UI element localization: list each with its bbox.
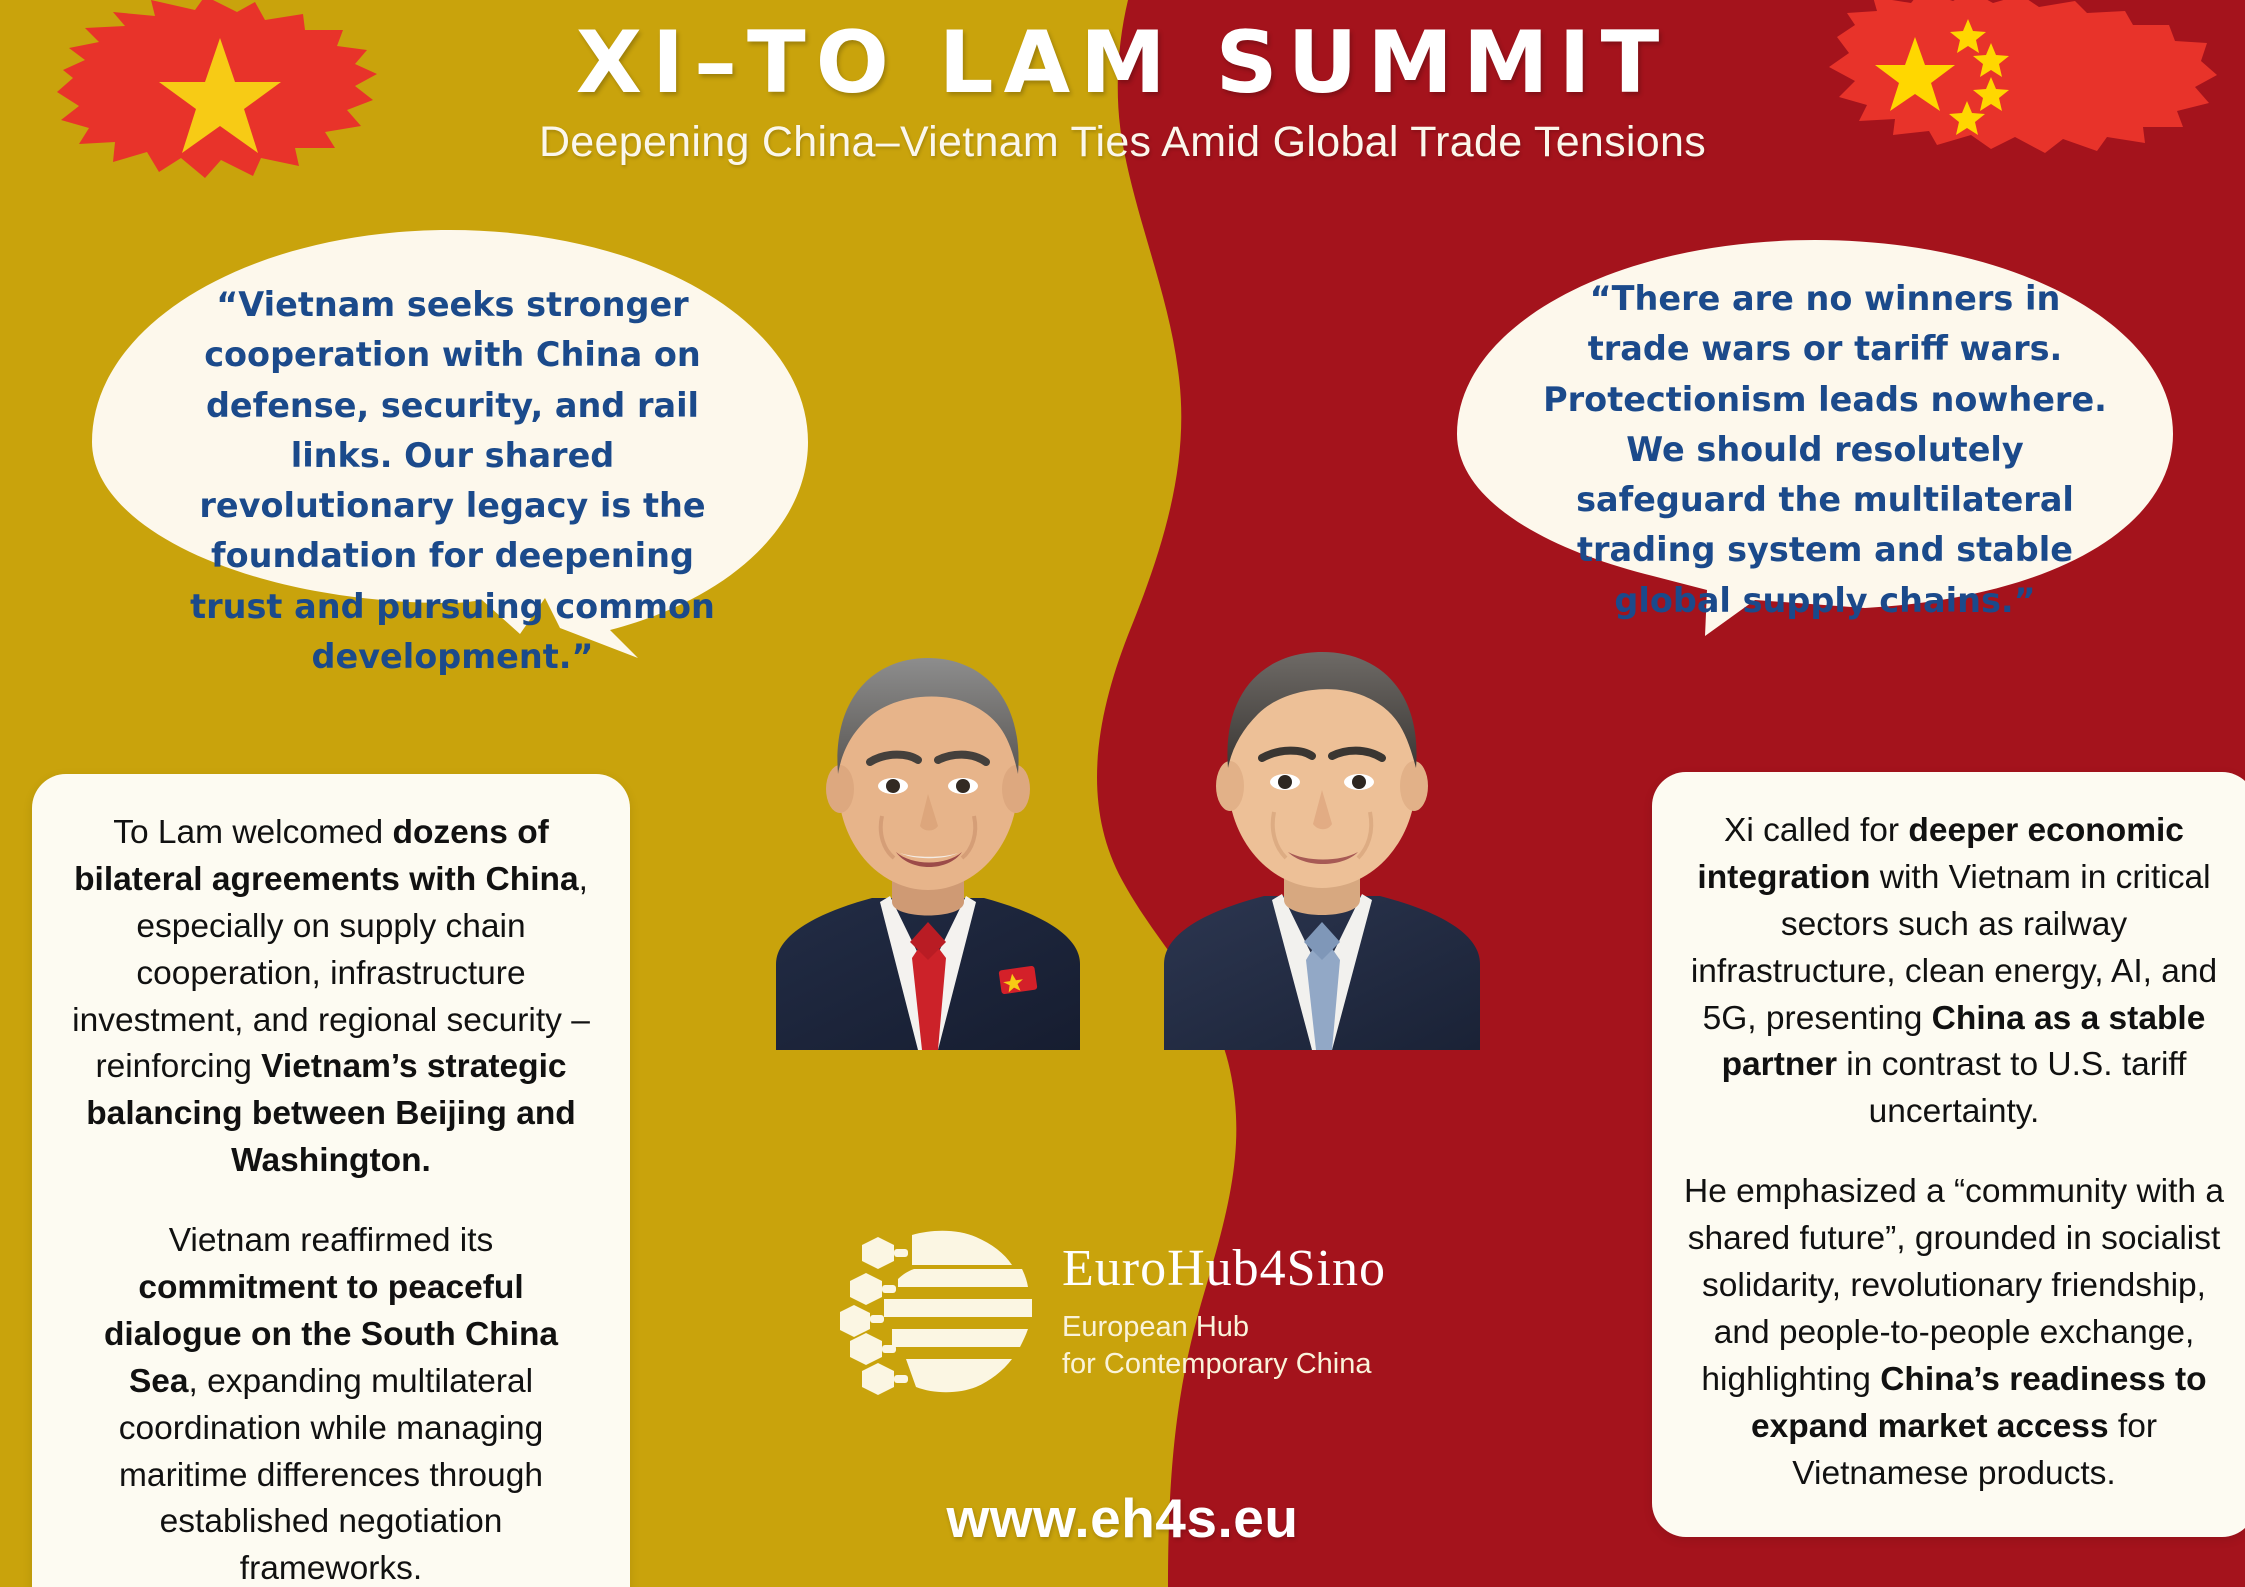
logo-tagline-line2: for Contemporary China [1062,1348,1371,1380]
page-title: XI–TO LAM SUMMIT [0,0,2245,108]
to-lam-portrait [762,634,1094,1050]
footer-website-url[interactable]: www.eh4s.eu [0,1486,2245,1550]
xi-jinping-portrait [1152,632,1492,1050]
info-paragraph: Xi called for deeper economic integratio… [1684,808,2224,1136]
info-paragraph: To Lam welcomed dozens of bilateral agre… [66,810,596,1185]
speech-bubble-xi: “There are no winners in trade wars or t… [1455,238,2175,638]
logo-name: EuroHub4Sino [1062,1243,1386,1295]
info-paragraph: He emphasized a “community with a shared… [1684,1169,2224,1497]
eurohub4sino-logo-icon [840,1223,1040,1398]
page-subtitle: Deepening China–Vietnam Ties Amid Global… [0,108,2245,167]
speech-bubble-to-lam: “Vietnam seeks stronger cooperation with… [90,228,810,658]
info-card-xi: Xi called for deeper economic integratio… [1652,772,2245,1537]
logo-tagline-line1: European Hub [1062,1311,1249,1343]
quote-text-to-lam: “Vietnam seeks stronger cooperation with… [180,280,725,682]
quote-text-xi: “There are no winners in trade wars or t… [1540,274,2110,626]
header: XI–TO LAM SUMMIT Deepening China–Vietnam… [0,0,2245,167]
infographic-canvas: XI–TO LAM SUMMIT Deepening China–Vietnam… [0,0,2245,1587]
info-card-to-lam: To Lam welcomed dozens of bilateral agre… [32,774,630,1587]
eurohub4sino-logo[interactable]: EuroHub4Sino European Hub for Contempora… [840,1215,1460,1405]
logo-tagline: European Hub for Contemporary China [1062,1309,1386,1383]
